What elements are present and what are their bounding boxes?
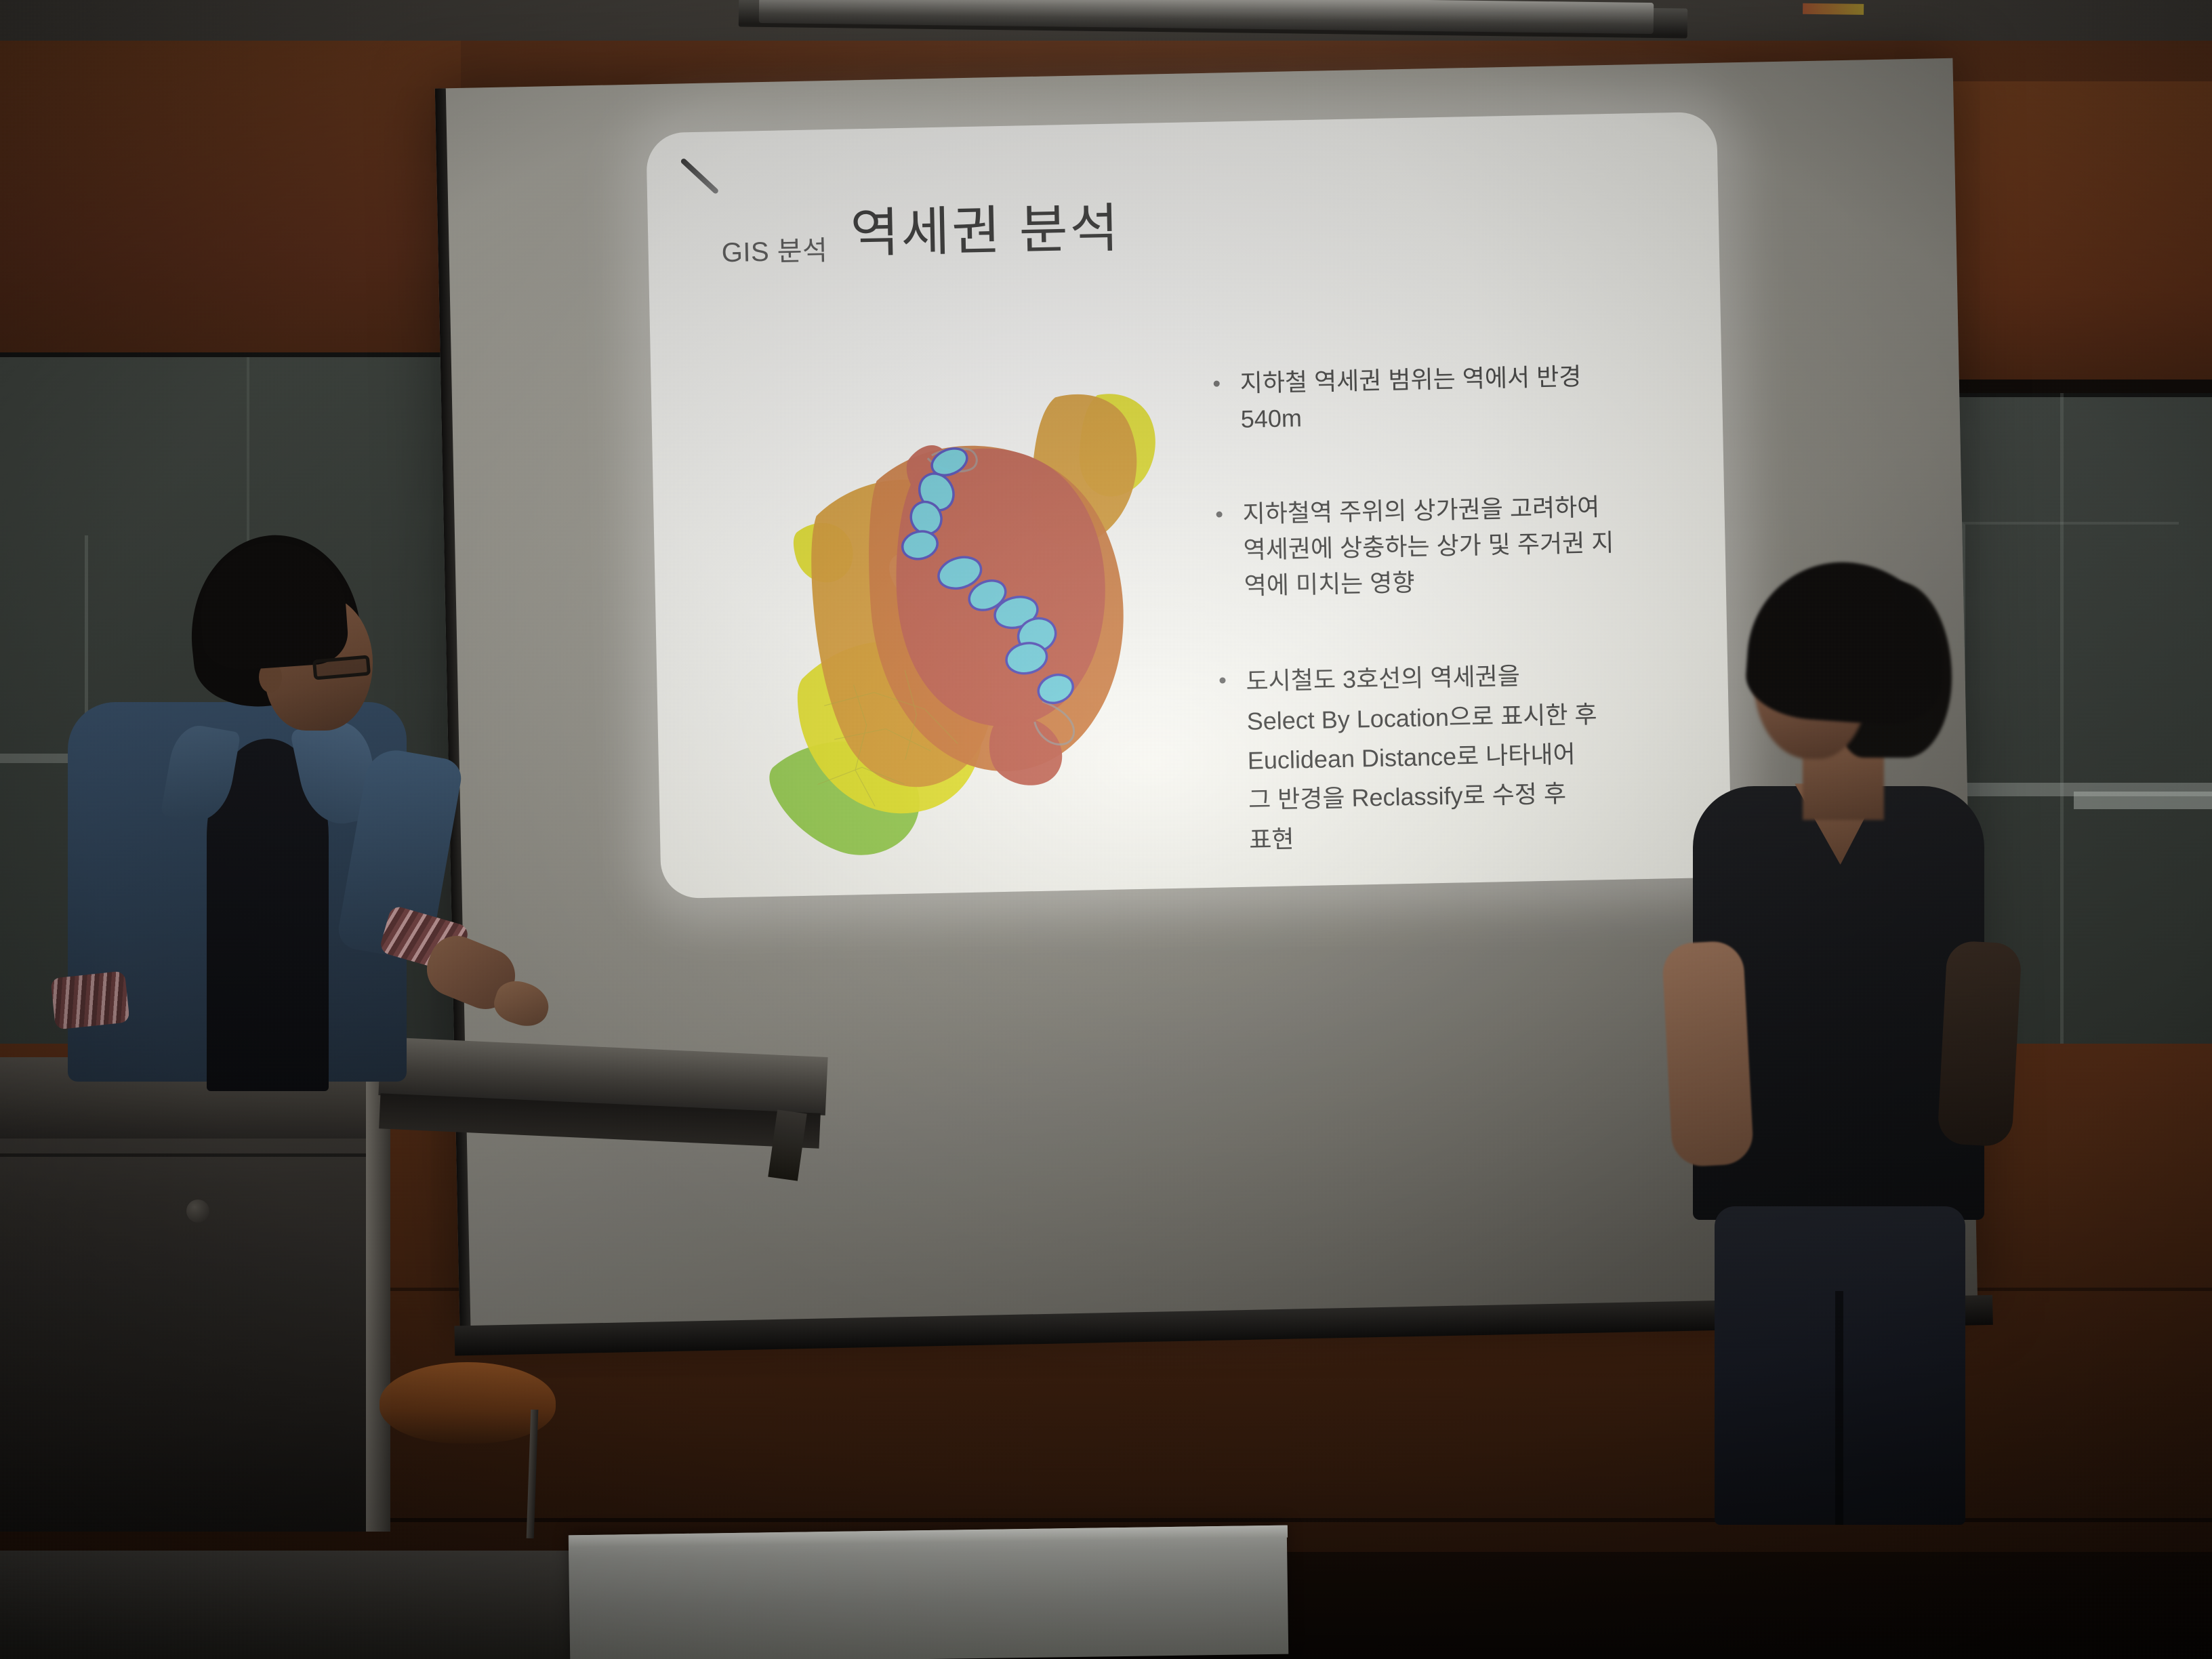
slide-title-row: GIS 분석 역세권 분석 — [720, 186, 1121, 270]
slide-kicker: GIS 분석 — [721, 228, 828, 270]
slide-bullet-list: 지하철 역세권 범위는 역에서 반경 540m 지하철역 주위의 상가권을 고려… — [1213, 356, 1698, 899]
classroom-scene: GIS 분석 역세권 분석 — [0, 0, 2212, 1659]
presenter-right-arm-right — [1937, 940, 2022, 1147]
page-title: 역세권 분석 — [850, 186, 1122, 267]
bullet-dot-icon — [1214, 381, 1220, 387]
bullet-text: 지하철역 주위의 상가권을 고려하여 역세권에 상충하는 상가 및 주거권 지 … — [1242, 488, 1615, 604]
map-svg — [753, 380, 1183, 863]
slide-accent-mark — [680, 157, 719, 194]
upper-wood-panel-left — [0, 41, 461, 380]
roller-sticker — [1803, 3, 1864, 15]
presenter-right-arm-left — [1661, 940, 1754, 1168]
presenter-right-hair — [1743, 556, 1950, 729]
bullet-dot-icon — [1216, 511, 1223, 517]
bullet-text: 도시철도 3호선의 역세권을 Select By Location으로 표시한 … — [1246, 655, 1600, 860]
presenter-left-plaid-cuff-far — [50, 970, 129, 1029]
presenter-right-leg-gap — [1835, 1291, 1843, 1525]
presentation-slide: GIS 분석 역세권 분석 — [646, 112, 1732, 899]
list-item: 도시철도 3호선의 역세권을 Select By Location으로 표시한 … — [1219, 653, 1698, 861]
bullet-dot-icon — [1219, 678, 1225, 684]
distance-analysis-map — [753, 380, 1183, 863]
bullet-text: 지하철 역세권 범위는 역에서 반경 540m — [1240, 359, 1582, 438]
wall-ledge-right-bright — [2074, 792, 2212, 809]
lectern-knob[interactable] — [186, 1200, 209, 1223]
chair-seat — [380, 1362, 556, 1443]
list-item: 지하철역 주위의 상가권을 고려하여 역세권에 상충하는 상가 및 주거권 지 … — [1216, 487, 1692, 605]
list-item: 지하철 역세권 범위는 역에서 반경 540m — [1213, 356, 1689, 438]
foreground-table-left — [0, 1551, 583, 1659]
lectern-seam — [0, 1153, 366, 1157]
presenter-right — [1674, 562, 2081, 1525]
presenter-left — [61, 535, 508, 1071]
